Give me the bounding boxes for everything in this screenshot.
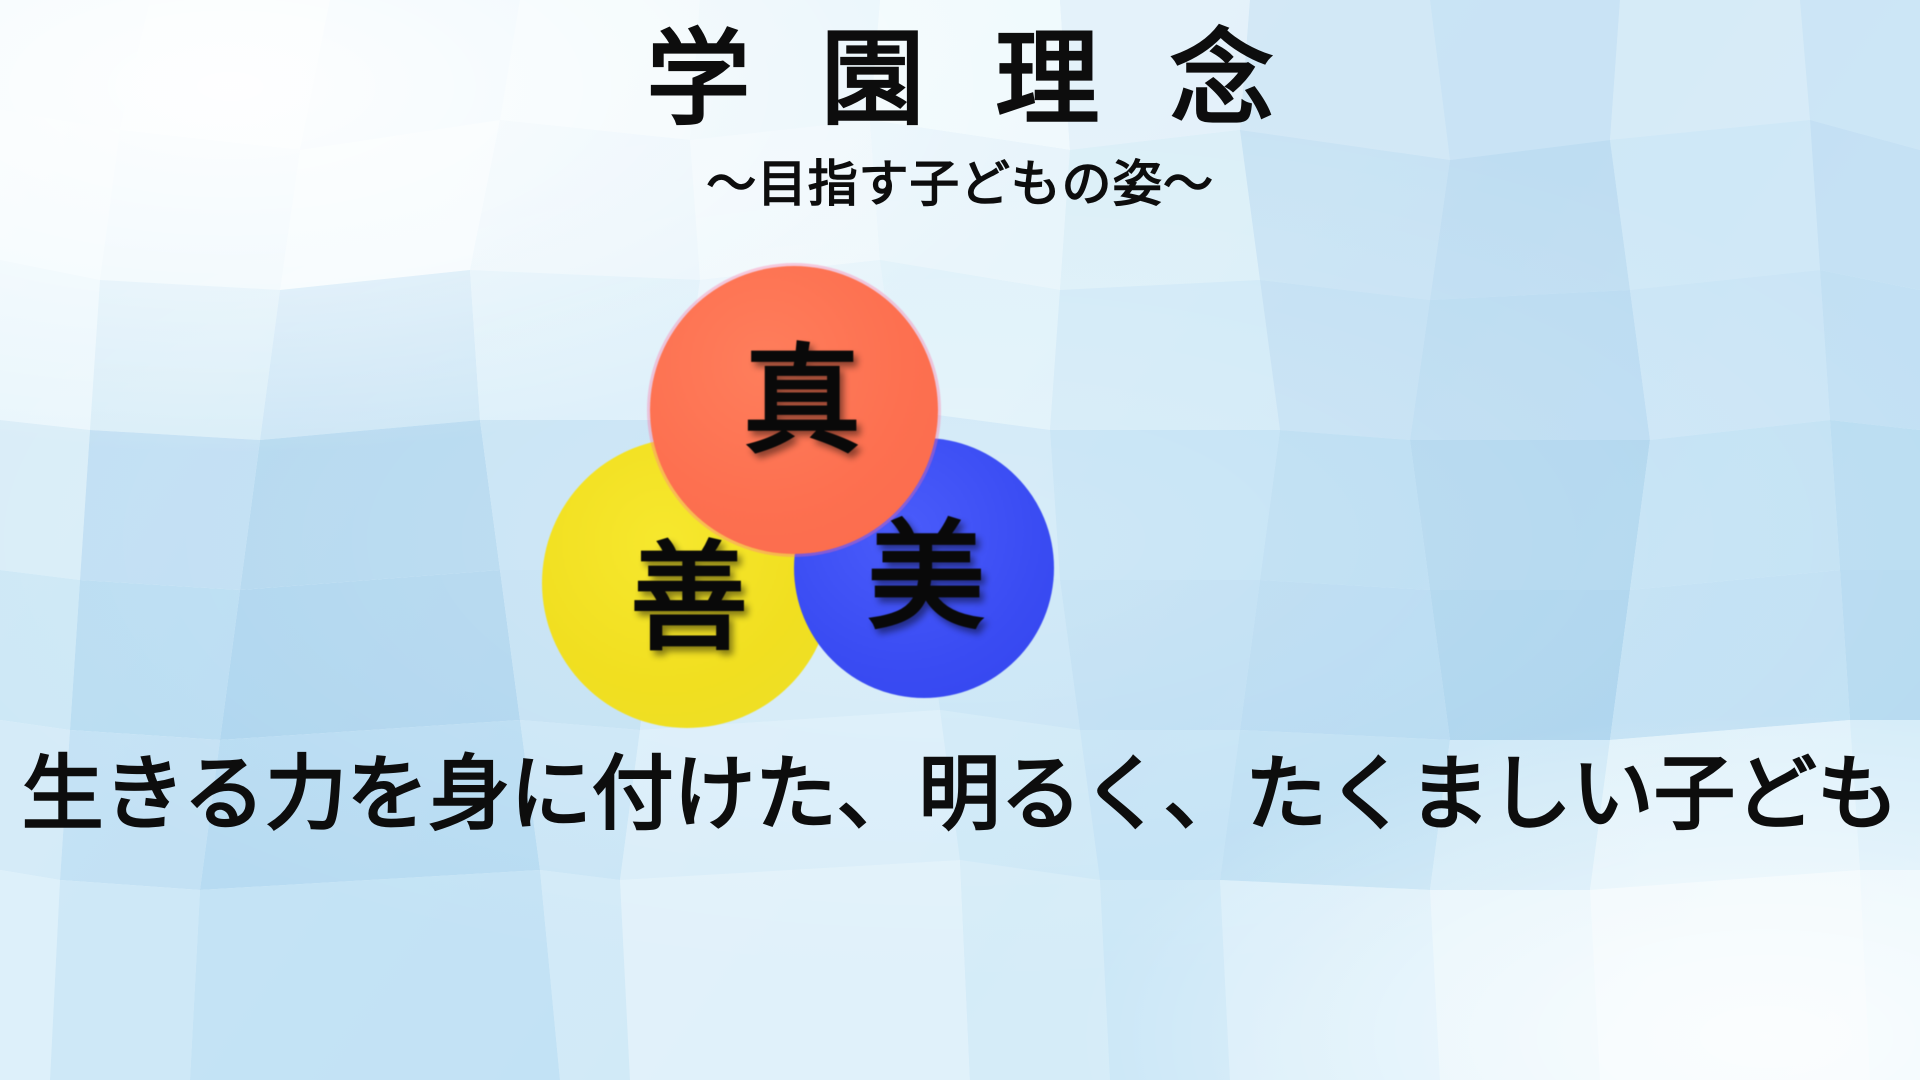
- venn-circle-shin: 真: [650, 266, 938, 554]
- page-subtitle: 〜目指す子どもの姿〜: [0, 154, 1920, 214]
- venn-circle-shin-label: 真: [743, 343, 861, 461]
- mission-statement: 生きる力を身に付けた、明るく、たくましい子ども: [0, 748, 1920, 842]
- venn-diagram: 善 美 真: [630, 260, 1290, 710]
- venn-circle-zen-label: 善: [630, 540, 748, 658]
- venn-circle-bi-label: 美: [867, 519, 985, 637]
- page-title: 学 園 理 念: [0, 14, 1920, 147]
- slide-canvas: 学 園 理 念 〜目指す子どもの姿〜 善 美 真 生きる力を身に付けた、明るく、…: [0, 0, 1920, 1080]
